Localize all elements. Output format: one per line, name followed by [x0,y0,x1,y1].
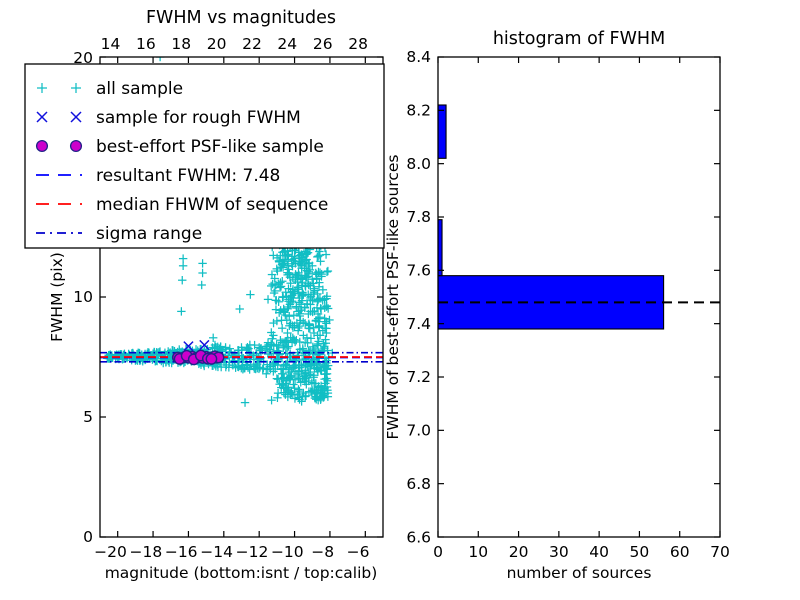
y-tick-label: 8.0 [406,155,431,173]
bottom-tick-label: −18 [130,543,163,561]
top-tick-label: 16 [136,35,156,53]
legend-label: all sample [96,79,183,99]
figure-canvas: FWHM vs magnitudes 14 16 18 20 22 24 26 … [0,0,800,600]
histogram-bar [438,105,446,158]
right-panel-ylabel: FWHM of best-effort PSF-like sources [384,154,402,439]
x-tick-label: 70 [710,543,730,561]
left-panel-ylabel: FWHM (pix) [48,252,66,342]
y-tick-label: 8.4 [406,48,431,66]
y-tick-label: 0 [83,528,93,546]
x-tick-label: 20 [509,543,529,561]
circle-marker [71,141,82,152]
y-tick-label: 6.8 [406,475,431,493]
circle-marker [37,141,48,152]
matplotlib-figure: FWHM vs magnitudes 14 16 18 20 22 24 26 … [0,0,800,600]
x-tick-label: 10 [468,543,488,561]
bottom-tick-label: −14 [200,543,233,561]
right-panel-xlabel: number of sources [507,564,652,582]
x-tick-label: 40 [589,543,609,561]
top-tick-label: 20 [207,35,227,53]
psf-circle-marker [206,354,216,364]
y-tick-label: 6.6 [406,528,431,546]
y-tick-label: 7.8 [406,208,431,226]
legend-label: median FHWM of sequence [96,195,328,215]
top-tick-label: 14 [101,35,121,53]
bottom-tick-label: −6 [347,543,370,561]
legend-label: resultant FWHM: 7.48 [96,166,280,186]
legend-label: sigma range [96,224,202,244]
y-tick-label: 7.4 [406,315,431,333]
legend: all sample sample for rough FWHM best-ef… [25,64,384,248]
scatter-series-psf-sample [173,350,224,364]
legend-label: sample for rough FWHM [96,108,301,128]
y-tick-label: 8.2 [406,102,431,120]
bottom-tick-label: −20 [94,543,127,561]
y-tick-label: 7.2 [406,368,431,386]
top-tick-label: 26 [313,35,333,53]
y-tick-label: 7.0 [406,422,431,440]
bottom-tick-label: −10 [271,543,304,561]
top-tick-label: 18 [171,35,191,53]
y-tick-label: 5 [83,408,93,426]
left-bottom-tick-labels: −20 −18 −16 −14 −12 −10 −8 −6 [94,543,369,561]
top-tick-label: 28 [348,35,368,53]
top-tick-label: 24 [277,35,297,53]
y-tick-label: 10 [73,288,93,306]
right-panel-title: histogram of FWHM [493,29,665,49]
bottom-tick-label: −16 [165,543,198,561]
bottom-tick-label: −12 [236,543,269,561]
x-tick-label: 50 [630,543,650,561]
x-tick-label: 60 [670,543,690,561]
bottom-tick-label: −8 [311,543,334,561]
x-tick-label: 0 [433,543,443,561]
x-tick-label: 30 [549,543,569,561]
left-panel-title: FWHM vs magnitudes [146,8,336,28]
left-panel-xlabel: magnitude (bottom:isnt / top:calib) [105,564,378,582]
top-tick-label: 22 [242,35,262,53]
legend-label: best-effort PSF-like sample [96,137,324,157]
y-tick-label: 7.6 [406,262,431,280]
